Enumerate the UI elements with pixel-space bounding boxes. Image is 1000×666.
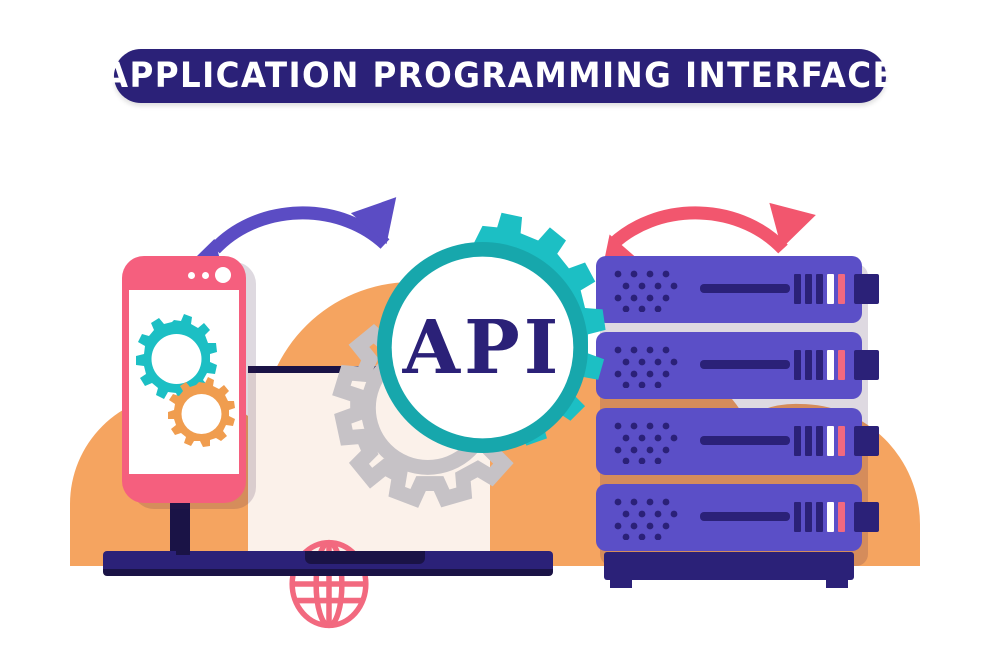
server-led — [816, 274, 823, 304]
server-status-bar — [700, 512, 790, 521]
server-rack-base — [604, 552, 854, 580]
server-led — [805, 350, 812, 380]
server-status-bar — [700, 284, 790, 293]
server-led-white — [827, 502, 834, 532]
phone-camera-dot — [202, 272, 209, 279]
server-led-group — [794, 426, 879, 456]
server-led — [805, 426, 812, 456]
api-illustration-scene: API — [0, 104, 1000, 666]
server-led-pink — [838, 274, 845, 304]
server-led-group — [794, 350, 879, 380]
server-led — [816, 350, 823, 380]
vent-dots-icon — [612, 496, 684, 540]
server-led — [805, 274, 812, 304]
server-led-pink — [838, 350, 845, 380]
server-status-bar — [700, 360, 790, 369]
server-led-white — [827, 274, 834, 304]
phone-screen — [129, 290, 239, 474]
server-led-group — [794, 274, 879, 304]
server-unit — [596, 332, 862, 399]
server-led — [816, 426, 823, 456]
server-status-bar — [700, 436, 790, 445]
server-led-block — [854, 350, 879, 380]
page-title: APPLICATION PROGRAMMING INTERFACE — [103, 59, 896, 94]
api-gear-hub — [392, 257, 574, 439]
server-led-white — [827, 350, 834, 380]
mobile-phone — [122, 256, 246, 503]
server-led-block — [854, 274, 879, 304]
server-rack-foot — [610, 574, 632, 588]
server-led — [816, 502, 823, 532]
server-led — [794, 426, 801, 456]
server-led-pink — [838, 426, 845, 456]
illustration-canvas: APPLICATION PROGRAMMING INTERFACE — [0, 0, 1000, 666]
server-unit — [596, 408, 862, 475]
phone-speaker-dot — [215, 267, 231, 283]
phone-gears-icon — [129, 290, 239, 474]
server-rack-foot — [826, 574, 848, 588]
server-led — [805, 502, 812, 532]
server-led — [794, 350, 801, 380]
server-unit — [596, 256, 862, 323]
laptop-base-notch — [305, 551, 425, 564]
server-led-group — [794, 502, 879, 532]
server-led — [794, 502, 801, 532]
server-led-white — [827, 426, 834, 456]
server-led — [794, 274, 801, 304]
api-gear — [336, 201, 629, 494]
title-banner: APPLICATION PROGRAMMING INTERFACE — [114, 49, 886, 103]
server-unit — [596, 484, 862, 551]
server-led-block — [854, 502, 879, 532]
phone-camera-dot — [188, 272, 195, 279]
server-led-pink — [838, 502, 845, 532]
server-led-block — [854, 426, 879, 456]
server-rack — [596, 256, 868, 566]
laptop-base-shadow — [103, 569, 553, 576]
